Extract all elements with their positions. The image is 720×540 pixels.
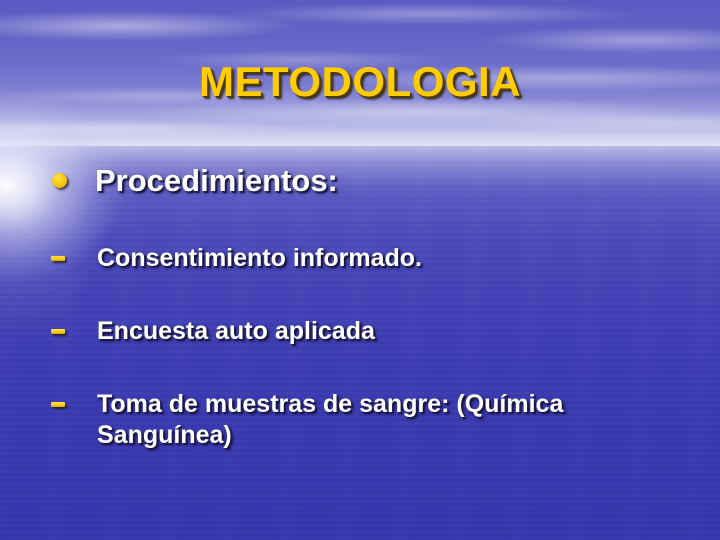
- bullet-text: Encuesta auto aplicada: [97, 316, 684, 347]
- dash-bullet-icon: [51, 329, 65, 334]
- slide-content: METODOLOGIA Procedimientos: Consentimien…: [0, 0, 720, 540]
- bullet-item-toma-muestras: Toma de muestras de sangre: (Química San…: [44, 389, 656, 451]
- presentation-slide: METODOLOGIA Procedimientos: Consentimien…: [0, 0, 720, 540]
- dash-bullet-icon: [51, 402, 65, 407]
- dash-bullet-icon: [51, 256, 65, 261]
- bullet-item-procedimientos: Procedimientos:: [44, 163, 684, 199]
- bullet-text: Toma de muestras de sangre: (Química San…: [97, 389, 656, 451]
- bullet-item-encuesta: Encuesta auto aplicada: [44, 316, 684, 347]
- bullet-text: Procedimientos:: [95, 163, 684, 199]
- slide-title: METODOLOGIA: [0, 58, 720, 106]
- round-bullet-icon: [52, 173, 67, 188]
- bullet-text: Consentimiento informado.: [97, 243, 684, 274]
- bullet-item-consentimiento: Consentimiento informado.: [44, 243, 684, 274]
